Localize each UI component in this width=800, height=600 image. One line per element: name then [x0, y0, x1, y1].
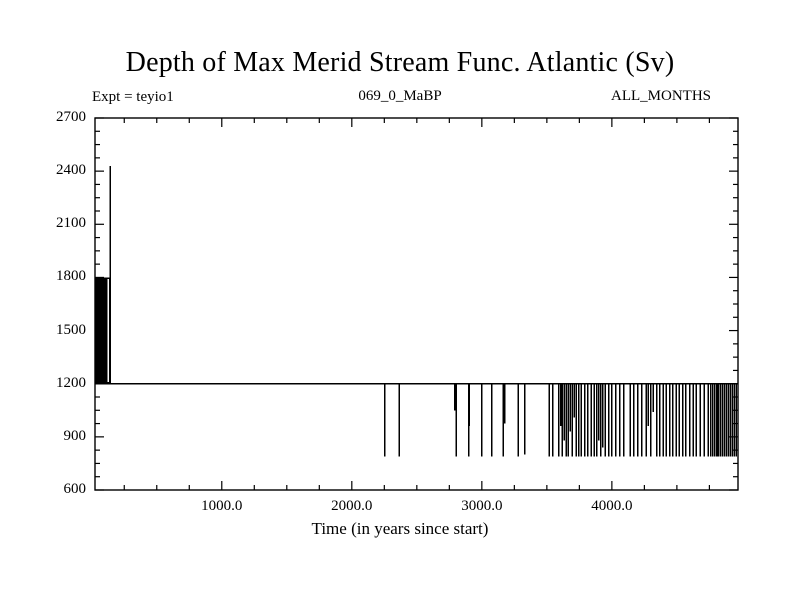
data-series: [95, 166, 738, 457]
plot-page: Depth of Max Merid Stream Func. Atlantic…: [0, 0, 800, 600]
chart-canvas: [0, 0, 800, 600]
